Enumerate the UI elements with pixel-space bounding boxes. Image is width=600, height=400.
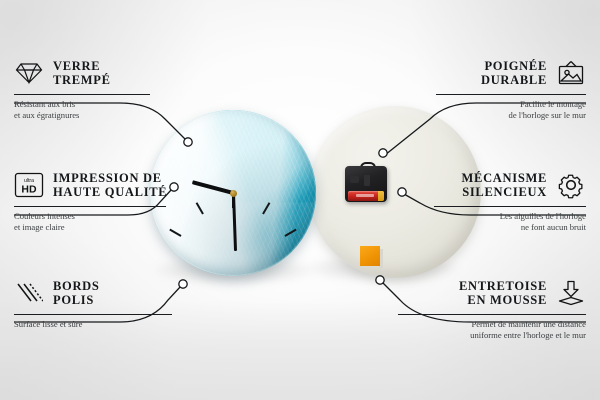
callout-description: Couleurs intenses et image claire [14,211,202,232]
callout-header: ENTRETOISE EN MOUSSE [398,276,586,310]
callout-entretoise-en-mousse: ENTRETOISE EN MOUSSE Permet de maintenir… [398,276,586,341]
callout-header: ultra HD IMPRESSION DE HAUTE QUALITÉ [14,168,202,202]
picture-frame-hanger-icon [556,58,586,88]
diamond-icon [14,58,44,88]
callout-rule [436,94,586,95]
callout-description: Les aiguilles de l'horloge ne font aucun… [398,211,586,232]
callout-bords-polis: BORDS POLIS Surface lisse et sûre [14,276,202,330]
callout-rule [14,94,150,95]
foam-spacer-top [360,246,380,266]
callout-header: MÉCANISME SILENCIEUX [398,168,586,202]
callout-rule [434,206,586,207]
callout-description: Surface lisse et sûre [14,319,202,330]
callout-title: BORDS POLIS [53,279,100,307]
callout-mecanisme-silencieux: MÉCANISME SILENCIEUX Les aiguilles de l'… [398,168,586,233]
infographic-scene: VERRE TREMPÉ Résistant aux bris et aux é… [0,0,600,400]
callout-header: BORDS POLIS [14,276,202,310]
polished-edges-icon [14,278,44,308]
battery-positive-cap [378,191,384,201]
callout-poignee-durable: POIGNÉE DURABLE Facilite le montage de l… [398,56,586,121]
callout-rule [14,314,172,315]
callout-rule [398,314,586,315]
callout-header: VERRE TREMPÉ [14,56,202,90]
mechanism-detail-right [364,175,370,186]
callout-title: IMPRESSION DE HAUTE QUALITÉ [53,171,167,199]
hour-marker [284,229,296,237]
callout-title: VERRE TREMPÉ [53,59,111,87]
mechanism-detail-left [350,176,359,183]
callout-verre-trempe: VERRE TREMPÉ Résistant aux bris et aux é… [14,56,202,121]
svg-text:HD: HD [21,184,37,196]
gear-icon [556,170,586,200]
callout-title: MÉCANISME SILENCIEUX [462,171,547,199]
battery [348,191,384,201]
callout-title: ENTRETOISE EN MOUSSE [459,279,547,307]
callout-description: Résistant aux bris et aux égratignures [14,99,202,120]
hour-marker [160,265,175,267]
hour-marker [291,265,306,267]
down-arrow-layer-icon [556,278,586,308]
foam-spacer [360,246,382,268]
callout-description: Permet de maintenir une distance uniform… [398,319,586,340]
hands-center-cap [230,190,237,197]
callout-rule [14,206,166,207]
callout-impression-haute-qualite: ultra HD IMPRESSION DE HAUTE QUALITÉ Cou… [14,168,202,233]
ultra-hd-icon: ultra HD [14,170,44,200]
battery-label-stripe [356,194,374,197]
callout-header: POIGNÉE DURABLE [398,56,586,90]
clock-mechanism [345,162,387,202]
hour-marker [262,202,270,214]
mechanism-body [345,166,387,202]
callout-description: Facilite le montage de l'horloge sur le … [398,99,586,120]
callout-title: POIGNÉE DURABLE [481,59,547,87]
